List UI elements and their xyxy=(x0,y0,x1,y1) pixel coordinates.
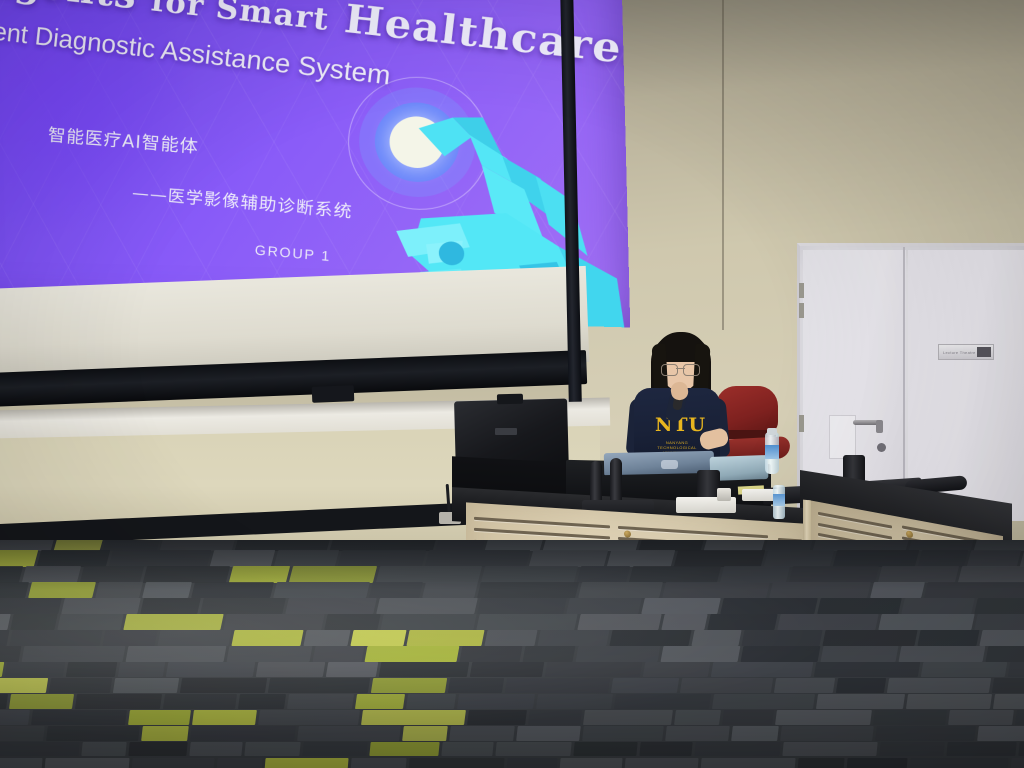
presenter-glasses xyxy=(661,364,700,374)
wall-corner-line xyxy=(722,0,724,330)
cabinet-lock[interactable] xyxy=(624,530,631,537)
carpet-floor xyxy=(0,540,1024,768)
bottle-label xyxy=(773,494,785,506)
carpet-shading xyxy=(0,540,1024,768)
podium-louver-slat xyxy=(474,528,610,540)
podium-louver-slat xyxy=(618,526,768,538)
door-lock-icon xyxy=(877,443,886,452)
door-push-plate xyxy=(829,415,856,459)
cabinet-lock[interactable] xyxy=(906,530,913,538)
laptop-sticker xyxy=(661,460,678,469)
bottle-label xyxy=(765,445,779,459)
cup[interactable] xyxy=(717,488,731,501)
podium-louver-slat xyxy=(474,517,610,529)
door-sign-text: Lecture Theatre xyxy=(939,350,976,355)
door-hinge xyxy=(799,303,804,318)
door-hinge xyxy=(799,415,804,432)
door-handle-stem xyxy=(876,420,883,433)
screen-casing-mount xyxy=(312,385,355,403)
door-sign-block xyxy=(977,347,991,357)
classroom-photo-scene: Lecture Theatre xyxy=(0,0,1024,768)
monitor-logo xyxy=(495,428,517,435)
door-seam xyxy=(903,247,905,518)
door-sign: Lecture Theatre xyxy=(938,344,994,360)
projection-screen: AI Agents for Smart Healthcare: Intellig… xyxy=(0,0,602,412)
monitor-top-mount xyxy=(497,394,523,405)
bottle-cap xyxy=(767,428,777,435)
door-hinge xyxy=(799,283,804,298)
